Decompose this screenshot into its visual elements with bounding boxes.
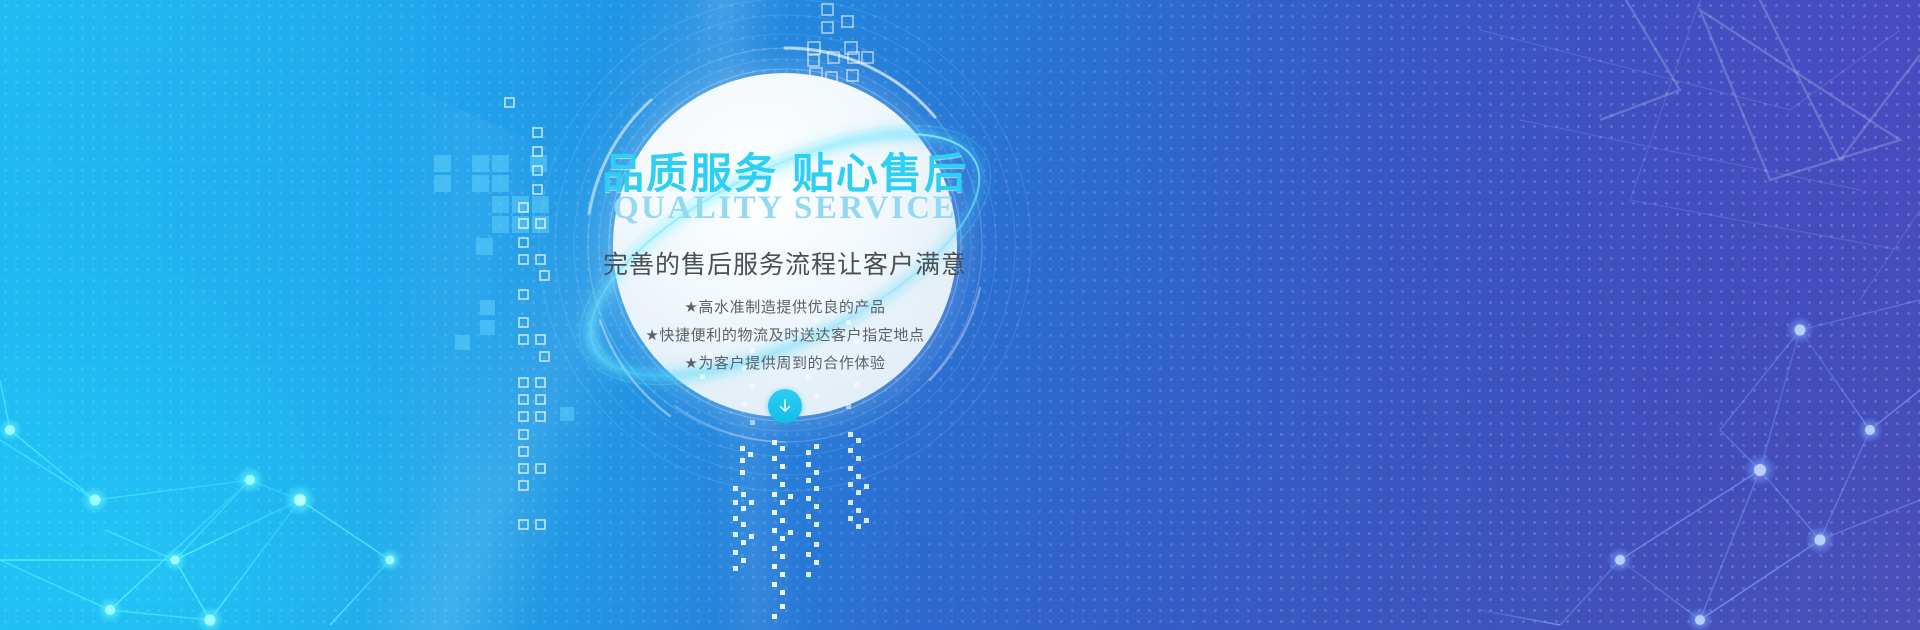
network-left bbox=[0, 380, 390, 625]
service-banner: 品质服务 贴心售后 QUALITY SERVICE 完善的售后服务流程让客户满意… bbox=[0, 0, 1920, 630]
arrow-down-icon bbox=[776, 397, 794, 415]
wireframe-lines-top-right bbox=[1480, 0, 1920, 300]
network-right-nodes bbox=[1607, 316, 1883, 630]
top-right-glow bbox=[1120, 0, 1920, 630]
scroll-down-button[interactable] bbox=[768, 389, 802, 423]
feature-bullet: ★高水准制造提供优良的产品 bbox=[645, 299, 924, 318]
banner-title-en: QUALITY SERVICE bbox=[613, 191, 957, 226]
network-left-nodes bbox=[0, 418, 402, 630]
feature-bullet: ★为客户提供周到的合作体验 bbox=[645, 355, 924, 374]
wireframe-triangles bbox=[1600, 0, 1920, 180]
feature-bullet-list: ★高水准制造提供优良的产品 ★快捷便利的物流及时送达客户指定地点 ★为客户提供周… bbox=[645, 299, 924, 373]
feature-bullet: ★快捷便利的物流及时送达客户指定地点 bbox=[645, 327, 924, 346]
network-right bbox=[1480, 300, 1920, 625]
banner-content: 品质服务 贴心售后 QUALITY SERVICE 完善的售后服务流程让客户满意… bbox=[465, 0, 1105, 630]
banner-subtitle: 完善的售后服务流程让客户满意 bbox=[603, 245, 967, 281]
